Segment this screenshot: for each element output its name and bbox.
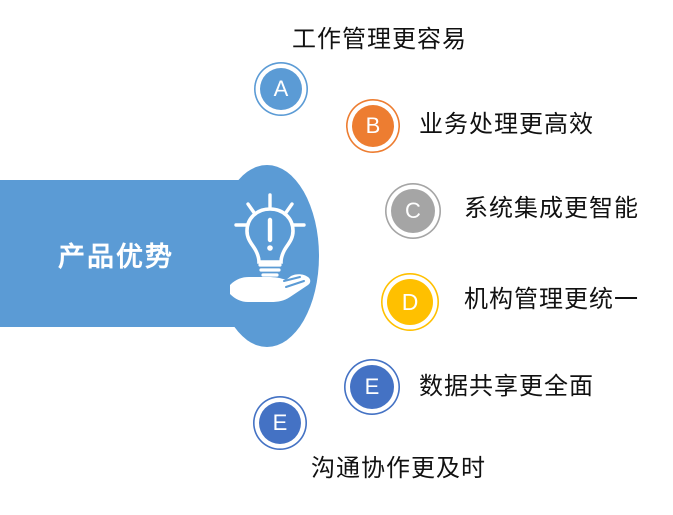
node-letter-b: B [366,115,381,137]
banner-title: 产品优势 [36,240,196,274]
node-label-d: 机构管理更统一 [464,288,639,312]
node-label-c: 系统集成更智能 [464,197,639,221]
lightbulb-in-hand-icon [228,193,312,303]
node-circle-a[interactable]: A [260,68,302,110]
node-letter-e2: E [273,412,288,434]
node-circle-e1[interactable]: E [350,365,394,409]
node-circle-d[interactable]: D [387,279,433,325]
node-letter-c: C [405,200,421,222]
node-circle-e2[interactable]: E [259,402,301,444]
node-label-e2: 沟通协作更及时 [311,457,486,481]
node-label-e1: 数据共享更全面 [419,375,594,399]
node-letter-d: D [402,291,419,314]
node-circle-b[interactable]: B [352,105,394,147]
node-letter-e1: E [365,376,380,398]
node-letter-a: A [274,78,289,100]
banner-product-advantages: 产品优势 [0,165,320,347]
node-circle-c[interactable]: C [391,189,435,233]
node-label-b: 业务处理更高效 [419,113,594,137]
product-advantages-diagram: 产品优势 A 工作管理更容 [0,0,673,515]
node-label-a: 工作管理更容易 [292,28,467,52]
